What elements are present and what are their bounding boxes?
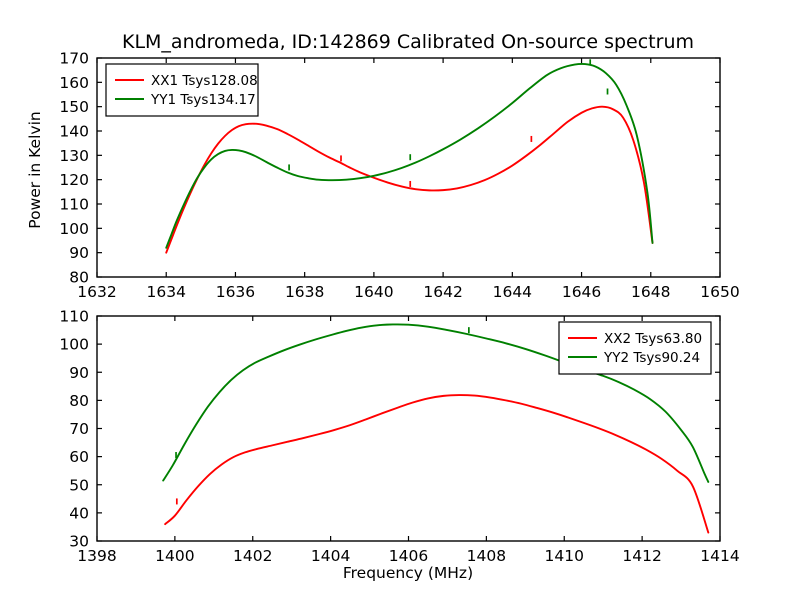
top-x-tick-label: 1640 [354,283,393,301]
plot-canvas: KLM_andromeda, ID:142869 Calibrated On-s… [0,0,800,600]
top-y-tick-label: 170 [59,50,89,68]
legend-entry-label: YY2 Tsys90.24 [603,350,700,366]
top-y-tick-label: 90 [69,244,89,262]
top-y-tick-label: 120 [59,171,89,189]
bottom-y-tick-label: 50 [69,476,89,494]
top-y-tick-label: 130 [59,147,89,165]
bottom-y-tick-label: 30 [69,533,89,551]
y-axis-label: Power in Kelvin [26,111,44,228]
legend-entry-label: YY1 Tsys134.17 [150,92,256,108]
top-x-tick-label: 1638 [285,283,324,301]
bottom-x-tick-label: 1408 [467,547,506,565]
top-y-tick-label: 140 [59,123,89,141]
bottom-x-tick-label: 1400 [155,547,194,565]
bottom-x-tick-label: 1402 [233,547,272,565]
top-y-tick-label: 150 [59,98,89,116]
matplotlib-figure: KLM_andromeda, ID:142869 Calibrated On-s… [0,0,800,600]
legend-entry-label: XX1 Tsys128.08 [151,73,258,89]
x-axis-label: Frequency (MHz) [343,564,473,582]
top-x-tick-label: 1648 [631,283,670,301]
top-x-tick-label: 1642 [423,283,462,301]
top-y-tick-label: 160 [59,74,89,92]
top-y-tick-label: 110 [59,196,89,214]
bottom-y-tick-label: 90 [69,364,89,382]
top-x-tick-label: 1646 [562,283,601,301]
bottom-y-tick-label: 70 [69,420,89,438]
bottom-x-tick-label: 1412 [622,547,661,565]
legend-box [106,64,258,116]
bottom-x-tick-label: 1406 [389,547,428,565]
top-legend: XX1 Tsys128.08YY1 Tsys134.17 [106,64,258,116]
top-x-tick-label: 1644 [493,283,532,301]
top-x-tick-label: 1636 [216,283,255,301]
bottom-y-tick-label: 40 [69,504,89,522]
bottom-y-tick-label: 80 [69,392,89,410]
bottom-y-tick-label: 100 [59,336,89,354]
bottom-legend: XX2 Tsys63.80YY2 Tsys90.24 [559,322,711,374]
bottom-y-tick-label: 60 [69,448,89,466]
legend-entry-label: XX2 Tsys63.80 [604,331,702,347]
figure-title: KLM_andromeda, ID:142869 Calibrated On-s… [122,31,694,53]
bottom-x-tick-label: 1414 [700,547,739,565]
bottom-x-tick-label: 1404 [311,547,350,565]
top-x-tick-label: 1634 [146,283,185,301]
bottom-x-tick-label: 1410 [545,547,584,565]
top-y-tick-label: 80 [69,269,89,287]
top-x-tick-label: 1650 [700,283,739,301]
bottom-y-tick-label: 110 [59,308,89,326]
legend-box [559,322,711,374]
top-y-tick-label: 100 [59,220,89,238]
